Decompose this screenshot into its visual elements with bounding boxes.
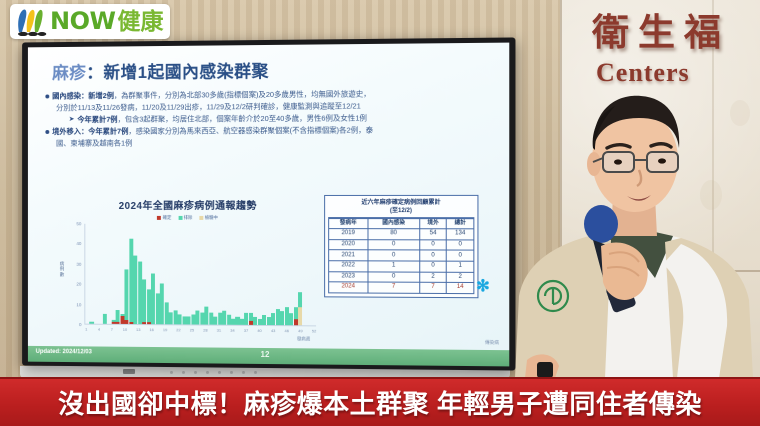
chart-bar-segment (280, 311, 284, 325)
slide-page-number: 12 (261, 350, 270, 359)
x-axis-tick (212, 328, 216, 333)
y-axis-tick: 40 (76, 241, 81, 246)
table-cell: 0 (420, 261, 447, 272)
logo-text-now: NOW (50, 9, 115, 33)
chart-bar-segment (112, 322, 116, 324)
chart-bar (147, 224, 151, 324)
chart-bar-segment (249, 313, 253, 321)
x-axis-tick (253, 328, 257, 333)
now-health-logo-icon (14, 6, 48, 36)
microphone-icon (584, 205, 618, 243)
bullet-dot-icon (45, 130, 49, 134)
chart-bar (129, 224, 133, 324)
slide-bullet-list: 國內感染：新增2例，為群聚事件，分別為北部30多歲(指標個案)及20多歲男性，均… (45, 87, 501, 149)
table-column-header: 發病年 (329, 219, 368, 229)
x-axis-tick: 10 (123, 327, 127, 332)
chart-bar (253, 224, 257, 325)
chart-bar (151, 224, 155, 324)
arrow-bullet-icon: ➤ (69, 114, 75, 125)
x-axis-tick (303, 328, 307, 333)
chart-bar-segment (142, 280, 146, 323)
chart-bar (156, 224, 160, 324)
table-header-row: 發病年國內感染境外總計 (329, 219, 474, 229)
x-axis-tick (141, 327, 145, 332)
slide-title-lead: 麻疹 (52, 64, 86, 83)
x-axis-tick: 37 (244, 328, 248, 333)
chart-bar-segment (142, 322, 146, 324)
chart-bar-segment (156, 294, 160, 324)
chart-plot-area (84, 224, 316, 327)
x-axis-tick (262, 328, 266, 333)
x-axis-tick (267, 328, 271, 333)
chart-bar (294, 224, 298, 325)
chart-bar-segment (200, 312, 204, 324)
table-row: 2020000 (329, 239, 474, 250)
x-axis-tick: 19 (163, 327, 167, 332)
chart-bar (244, 224, 248, 325)
x-axis-tick: 7 (110, 327, 114, 332)
legend-label: 檢驗中 (205, 215, 218, 221)
presentation-monitor: 麻疹：新增1起國內感染群聚 國內感染：新增2例，為群聚事件，分別為北部30多歲(… (22, 37, 515, 370)
chart-bar-segment (187, 316, 191, 324)
slide-updated-label: Updated: 2024/12/03 (36, 349, 92, 355)
chart-bar-segment (173, 310, 177, 324)
x-axis-tick (101, 327, 105, 332)
legend-item: 檢驗中 (199, 215, 218, 221)
chart-bar (285, 224, 289, 325)
chart-bar (312, 224, 316, 325)
chart-bar-segment (222, 310, 226, 324)
x-axis-tick (106, 327, 110, 332)
chart-bar-segment (196, 310, 200, 324)
x-axis-tick (118, 327, 122, 332)
table-cell: 1 (447, 261, 474, 272)
table-row: 20198054134 (329, 229, 474, 240)
chart-bar-segment (151, 274, 155, 325)
x-axis-tick (276, 328, 280, 333)
x-axis-tick (154, 327, 158, 332)
now-health-logo: NOW 健康 (10, 4, 170, 39)
chart-bar-segment (147, 290, 151, 322)
chart-bar (165, 224, 169, 324)
wall-sign-chinese: 衛生福 (592, 2, 730, 56)
x-axis-tick (226, 328, 230, 333)
bullet-strong: 境外移入：今年累計7例 (52, 127, 128, 136)
legend-swatch (178, 216, 182, 220)
chart-bar-segment (165, 302, 169, 324)
x-axis-tick: 34 (230, 328, 234, 333)
chart-bar (142, 224, 146, 324)
slide-title: 麻疹：新增1起國內感染群聚 (52, 57, 269, 84)
x-axis-tick: 31 (217, 328, 221, 333)
x-axis-tick: 52 (312, 328, 316, 333)
y-axis-tick: 50 (76, 221, 81, 226)
x-axis-tick (289, 328, 293, 333)
chart-bar-segment (244, 313, 248, 325)
chart-bar (218, 224, 222, 325)
chart-bar-segment (285, 307, 289, 325)
chart-bar-segment (276, 309, 280, 325)
bullet-strong: 國內感染：新增2例 (52, 91, 114, 100)
chart-bar (213, 224, 217, 325)
chart-bar-segment (160, 284, 164, 325)
chart-bar-segment (294, 319, 298, 325)
table-column-header: 國內感染 (368, 219, 420, 229)
table-cell: 7 (368, 282, 420, 293)
x-axis-tick (114, 327, 118, 332)
table-cell: 2023 (329, 271, 368, 282)
chart-bar (112, 224, 116, 324)
legend-item: 確定 (157, 215, 171, 221)
bullet-text: 國、柬埔寨及越南各1例 (56, 137, 132, 149)
x-axis-tick: 49 (298, 328, 302, 333)
chart-bar (138, 224, 142, 324)
list-item: 國、柬埔寨及越南各1例 (45, 136, 501, 150)
chart-bar (178, 224, 182, 324)
slide-footer: Updated: 2024/12/03 12 (28, 346, 509, 367)
chart-bar (134, 224, 138, 324)
table-cell: 134 (447, 229, 474, 240)
table-cell: 1 (368, 261, 420, 272)
chart-bar-segment (258, 319, 262, 325)
chart-bar (98, 224, 102, 324)
chart-bar-segment (182, 316, 186, 324)
x-axis-tick (89, 327, 93, 332)
x-axis-tick: 1 (84, 327, 88, 332)
chart-bar (271, 224, 275, 325)
chart-bar (196, 224, 200, 325)
table-row: 2021000 (329, 250, 474, 261)
chart-bar (200, 224, 204, 325)
table-cell: 0 (368, 250, 420, 261)
chart-bar (236, 224, 240, 325)
x-axis-tick (280, 328, 284, 333)
chart-title: 2024年全國麻疹病例通報趨勢 (59, 197, 318, 212)
table-cell: 0 (447, 250, 474, 261)
chart-bar (262, 224, 266, 325)
chart-bar-segment (116, 322, 120, 324)
y-axis-tick: 30 (76, 262, 81, 267)
chart-bar-segment (231, 319, 235, 325)
x-axis-tick: 46 (285, 328, 289, 333)
chart-bar-segment (138, 261, 142, 324)
table-cell: 2022 (329, 261, 368, 272)
chart-bar (209, 224, 213, 325)
presentation-slide: 麻疹：新增1起國內感染群聚 國內感染：新增2例，為群聚事件，分別為北部30多歲(… (28, 43, 509, 367)
table-caption-line2: (至12/2) (328, 207, 474, 215)
x-axis-tick (132, 327, 136, 332)
chart-bar (116, 224, 120, 324)
x-axis-tick: 40 (257, 328, 261, 333)
table-row: 2023022 (329, 271, 474, 282)
chart-bar-segment (298, 293, 302, 307)
chart-bar (169, 224, 173, 324)
x-axis-tick (168, 327, 172, 332)
chart-bar-segment (294, 307, 298, 319)
news-headline-banner: 沒出國卻中標！麻疹爆本土群聚 年輕男子遭同住者傳染 (0, 377, 760, 426)
chart-bar (298, 224, 302, 325)
chart-legend: 確定 排除 檢驗中 (59, 215, 318, 221)
y-axis-tick: 10 (76, 302, 81, 307)
x-axis-tick (307, 328, 311, 333)
legend-swatch (157, 216, 161, 220)
speaker-photo (505, 78, 760, 378)
x-axis-tick: 22 (176, 327, 180, 332)
chart-bar-segment (129, 239, 133, 322)
chart-bar-segment (103, 314, 107, 324)
summary-table: 發病年國內感染境外總計 2019805413420200002021000202… (328, 218, 474, 294)
chart-bar-segment (90, 322, 94, 324)
chart-bar-segment (134, 255, 138, 324)
slide-title-rest: ：新增1起國內感染群聚 (86, 62, 269, 82)
table-caption: 近六年麻疹確定病例回顧累計 (至12/2) (328, 199, 474, 218)
highlight-asterisk-icon: ✻ (476, 279, 490, 295)
legend-item: 排除 (178, 215, 192, 221)
x-axis-tick: 28 (203, 328, 207, 333)
chart-bar-segment (125, 320, 129, 324)
chart-bar-segment (249, 321, 253, 325)
remote-clicker-icon (537, 362, 553, 378)
logo-text-health: 健康 (117, 10, 163, 33)
x-axis-tick (159, 327, 163, 332)
chart-bar-segment (218, 312, 222, 324)
table-cell: 54 (420, 229, 447, 240)
table-column-header: 境外 (420, 219, 447, 229)
chart-bar-segment (267, 317, 271, 325)
chart-bar-segment (204, 306, 208, 324)
x-axis-tick (208, 328, 212, 333)
legend-label: 確定 (163, 215, 172, 221)
table-column-header: 總計 (447, 219, 474, 229)
chart-bar (303, 224, 307, 325)
chart-bar (227, 224, 231, 325)
chart-bar (240, 224, 244, 325)
table-cell: 2 (420, 272, 447, 283)
x-axis-tick (128, 327, 132, 332)
chart-bar-segment (213, 316, 217, 324)
chart-y-axis: 01020304050 (69, 224, 84, 325)
chart-bar-segment (120, 316, 124, 324)
chart-bar-segment (236, 317, 240, 325)
chart-bar (307, 224, 311, 325)
chart-bar (187, 224, 191, 325)
measles-trend-chart: 2024年全國麻疹病例通報趨勢 確定 排除 檢驗中 病例數 0102030405… (59, 197, 318, 350)
slide-source-note: 傳染病 (485, 340, 499, 346)
chart-bar (120, 224, 124, 324)
chart-bar (222, 224, 226, 325)
chart-bar-segment (125, 269, 129, 320)
x-axis-tick (172, 327, 176, 332)
x-axis-tick (145, 327, 149, 332)
chart-x-axis-label: 發病週 (297, 336, 310, 342)
x-axis-tick: 25 (190, 327, 194, 332)
chart-bar-segment (240, 319, 244, 325)
table-cell: 2019 (329, 229, 368, 240)
table-body: 2019805413420200002021000202210120230222… (329, 229, 474, 293)
x-axis-tick (222, 328, 226, 333)
chart-bar (280, 224, 284, 325)
chart-bar-segment (298, 307, 302, 325)
x-axis-tick (93, 327, 97, 332)
table-cell: 2021 (329, 250, 368, 261)
six-year-summary-table: 近六年麻疹確定病例回顧累計 (至12/2) 發病年國內感染境外總計 201980… (324, 195, 478, 298)
chart-bar-segment (169, 312, 173, 324)
y-axis-tick: 0 (79, 322, 82, 327)
x-axis-tick (239, 328, 243, 333)
table-cell: 0 (368, 271, 420, 282)
chart-bar (289, 224, 293, 325)
chart-y-axis-label: 病例數 (58, 261, 66, 277)
chart-bar-segment (147, 322, 151, 324)
chart-bar (231, 224, 235, 325)
legend-swatch (199, 216, 203, 220)
chart-bar-segment (209, 312, 213, 324)
x-axis-tick (199, 327, 203, 332)
x-axis-tick (249, 328, 253, 333)
chart-bar (249, 224, 253, 325)
x-axis-tick: 4 (97, 327, 101, 332)
chart-x-axis: 147101316192225283134374043464952 (84, 327, 316, 334)
chart-bar-segment (289, 313, 293, 325)
headline-text: 沒出國卻中標！麻疹爆本土群聚 年輕男子遭同住者傳染 (58, 384, 702, 421)
chart-bar (173, 224, 177, 324)
screenshot-stage: 衛生福 Centers NOW 健康 麻疹：新增1起國內感染群聚 國內感染：新增… (0, 0, 760, 426)
table-cell: 0 (368, 240, 420, 251)
table-cell: 80 (368, 229, 420, 240)
x-axis-tick: 16 (149, 327, 153, 332)
chart-bar (267, 224, 271, 325)
chart-bar-segment (191, 314, 195, 324)
table-cell: 0 (420, 240, 447, 251)
legend-label: 排除 (184, 215, 193, 221)
chart-bar-segment (116, 310, 120, 322)
chart-bar (125, 224, 129, 324)
table-row: 2022101 (329, 261, 474, 272)
table-cell: 14 (447, 282, 474, 293)
chart-bar (276, 224, 280, 325)
bullet-dot-icon (45, 94, 49, 98)
monitor-base-nub (123, 369, 135, 374)
x-axis-tick (185, 327, 189, 332)
chart-bar-segment (262, 315, 266, 325)
x-axis-tick (195, 327, 199, 332)
table-cell: 2024 (329, 282, 368, 293)
chart-bar-segment (271, 313, 275, 325)
x-axis-tick: 43 (271, 328, 275, 333)
chart-bar (103, 224, 107, 324)
chart-bar-segment (129, 322, 133, 324)
table-cell: 7 (420, 282, 447, 293)
x-axis-tick (181, 327, 185, 332)
chart-bar-segment (227, 315, 231, 325)
table-cell: 0 (447, 240, 474, 251)
chart-bar (107, 224, 111, 324)
x-axis-tick (235, 328, 239, 333)
bullet-text: ，感染國家分別為馬來西亞、航空器感染群聚個案(不含指標個案)各2例，泰 (128, 125, 373, 135)
table-row: 20247714 (329, 282, 474, 293)
x-axis-tick (294, 328, 298, 333)
bullet-text: ，包含3起群聚，均居住北部，個案年齡介於20至40多歲，男性6例及女性1例 (118, 113, 367, 123)
table-cell: 2020 (329, 239, 368, 250)
table-caption-line1: 近六年麻疹確定病例回顧累計 (328, 199, 474, 207)
x-axis-tick: 13 (136, 327, 140, 332)
bullet-strong: 今年累計7例 (77, 115, 117, 124)
chart-bar (94, 224, 98, 324)
chart-bar (191, 224, 195, 325)
chart-bar-segment (253, 317, 257, 325)
chart-bar (258, 224, 262, 325)
chart-bar (160, 224, 164, 324)
chart-bar (90, 224, 94, 324)
table-cell: 0 (420, 250, 447, 261)
y-axis-tick: 20 (76, 282, 81, 287)
bullet-text: ，為群聚事件，分別為北部30多歲(指標個案)及20多歲男性，均無國外旅遊史， (114, 89, 371, 100)
chart-bar-segment (178, 314, 182, 324)
chart-bar (182, 224, 186, 325)
chart-bar (204, 224, 208, 325)
table-cell: 2 (447, 272, 474, 283)
chart-bar (85, 224, 89, 324)
